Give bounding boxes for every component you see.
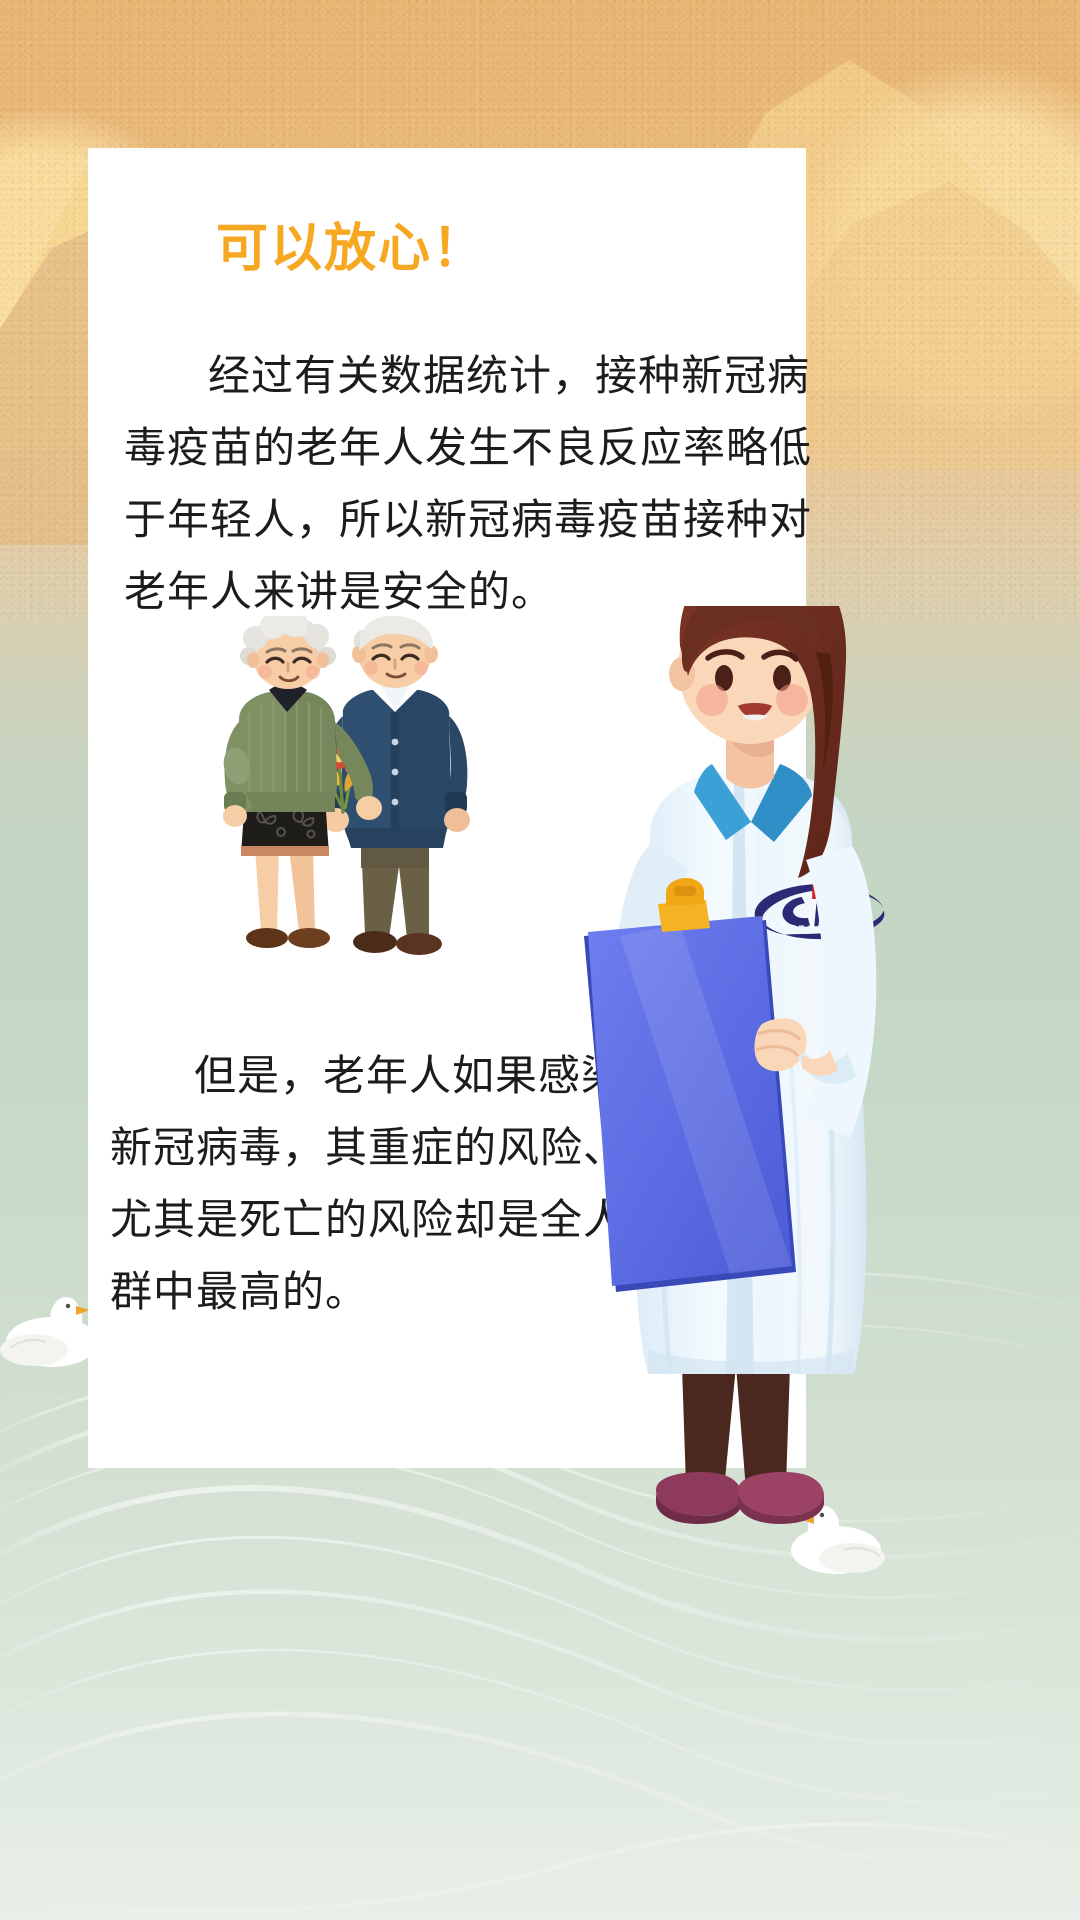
paragraph-1-line-3: 于年轻人，所以新冠病毒疫苗接种对 (124, 484, 812, 556)
paragraph-1-line-1: 经过有关数据统计，接种新冠病 (124, 340, 812, 412)
poster-root: 可以放心！ 经过有关数据统计，接种新冠病 毒疫苗的老年人发生不良反应率略低 于年… (0, 0, 1080, 1920)
paragraph-1-line-2: 毒疫苗的老年人发生不良反应率略低 (124, 412, 812, 484)
page-title: 可以放心！ (216, 221, 486, 278)
clipboard (584, 878, 796, 1292)
elderly-couple-illustration (193, 616, 523, 976)
paragraph-1: 经过有关数据统计，接种新冠病 毒疫苗的老年人发生不良反应率略低 于年轻人，所以新… (124, 340, 812, 628)
doctor-illustration (530, 606, 950, 1606)
